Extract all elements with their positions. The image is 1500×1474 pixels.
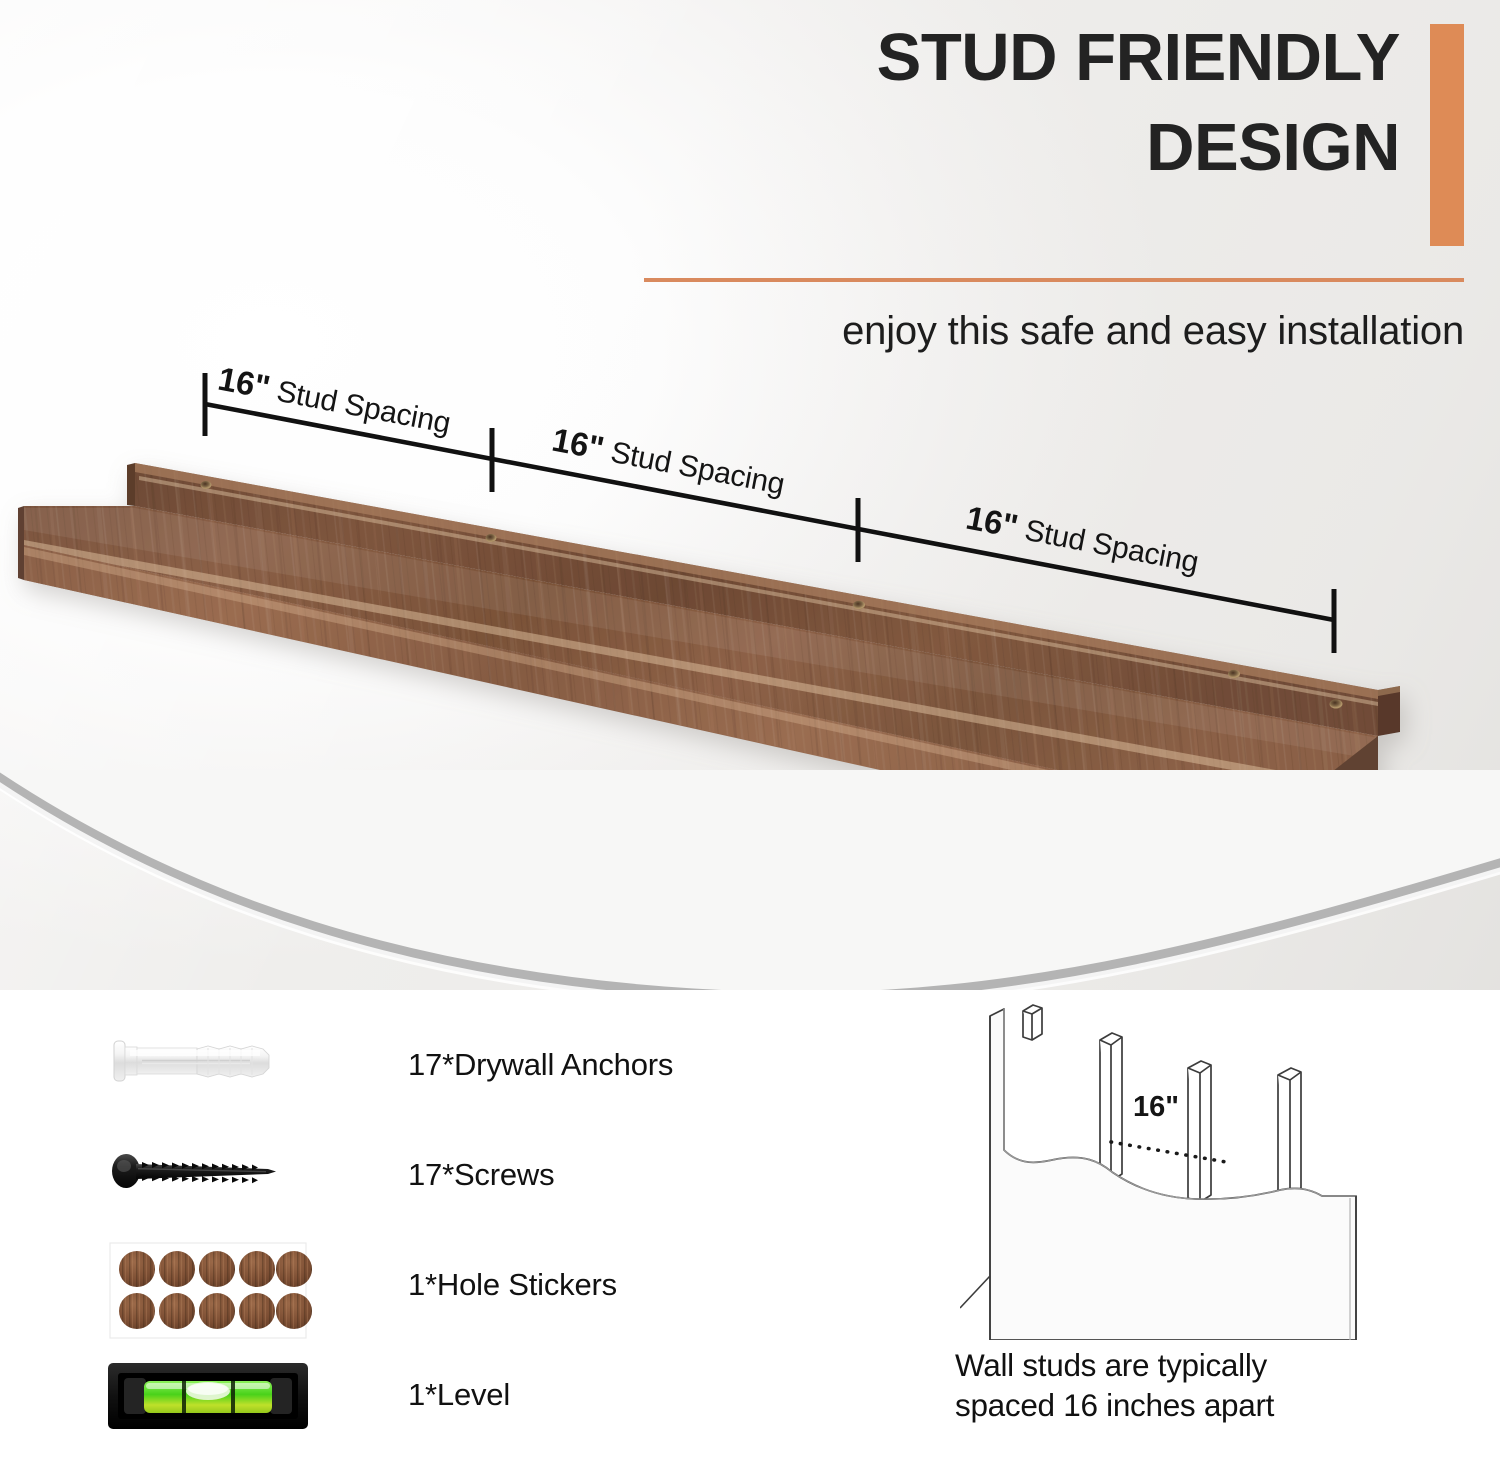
list-item: 17*Drywall Anchors (100, 1010, 740, 1120)
hardware-parts-list: 17*Drywall Anchors (100, 1010, 740, 1450)
subtitle: enjoy this safe and easy installation (644, 309, 1464, 354)
studs-caption-line-1: Wall studs are typically (955, 1345, 1425, 1385)
wave-svg (0, 770, 1500, 1010)
title-text: STUD FRIENDLY DESIGN (877, 24, 1400, 183)
list-item: 17*Screws (100, 1120, 740, 1230)
title-block: STUD FRIENDLY DESIGN enjoy this safe and… (644, 24, 1464, 354)
title-line-1: STUD FRIENDLY (877, 24, 1400, 92)
bottom-section: 17*Drywall Anchors (0, 990, 1500, 1474)
list-item-label: 17*Screws (408, 1157, 554, 1193)
studs-svg: 16" (960, 990, 1420, 1340)
horizontal-rule (644, 278, 1464, 282)
wall-studs-diagram: 16" (960, 990, 1420, 1340)
hole-stickers-icon (100, 1235, 330, 1335)
title-row: STUD FRIENDLY DESIGN (644, 24, 1464, 246)
stud-dimension-label: 16" (1133, 1091, 1179, 1123)
screw-icon (100, 1125, 330, 1225)
orange-accent-bar (1430, 24, 1464, 246)
title-line-2: DESIGN (877, 114, 1400, 182)
studs-caption: Wall studs are typically spaced 16 inche… (955, 1345, 1425, 1426)
level-icon (100, 1345, 330, 1445)
list-item-label: 17*Drywall Anchors (408, 1047, 673, 1083)
wave-divider (0, 770, 1500, 1010)
studs-caption-line-2: spaced 16 inches apart (955, 1385, 1425, 1425)
list-item-label: 1*Level (408, 1377, 510, 1413)
list-item: 1*Level (100, 1340, 740, 1450)
list-item-label: 1*Hole Stickers (408, 1267, 617, 1303)
drywall-anchor-icon (100, 1015, 330, 1115)
list-item: 1*Hole Stickers (100, 1230, 740, 1340)
hero-section: 16" Stud Spacing 16" Stud Spacing 16" St… (0, 0, 1500, 1010)
